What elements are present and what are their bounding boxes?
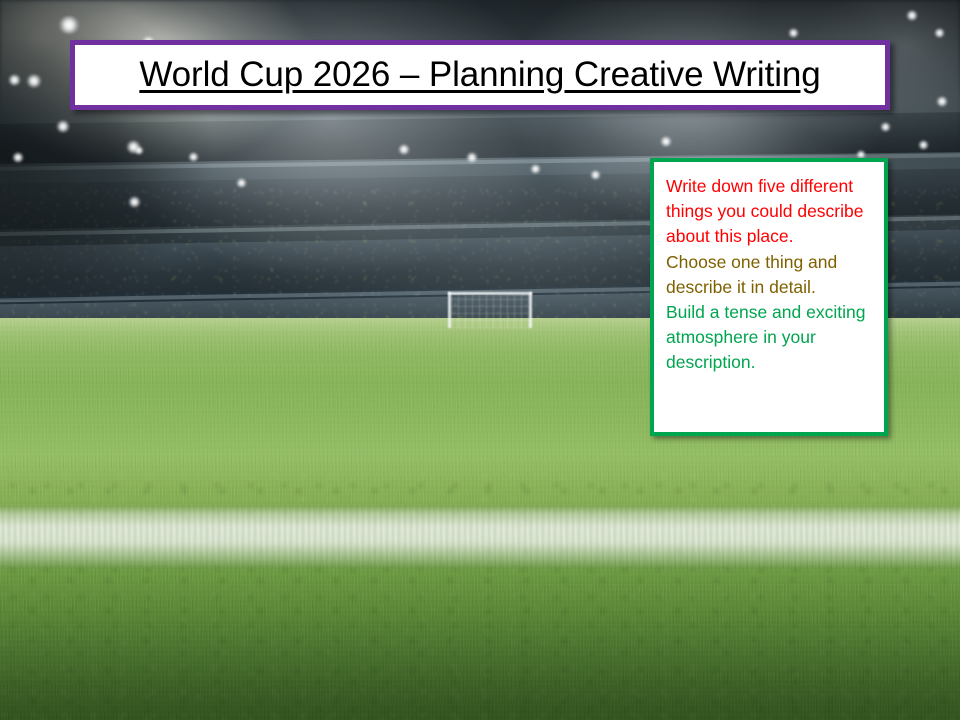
slide-canvas: World Cup 2026 – Planning Creative Writi…	[0, 0, 960, 720]
floodlight-bulb-icon	[134, 146, 144, 155]
goal-crossbar	[448, 292, 532, 295]
floodlight-bulb-icon	[128, 196, 141, 208]
task-line-should: Choose one thing and describe it in deta…	[666, 250, 874, 300]
floodlight-bulb-icon	[936, 96, 948, 107]
floodlight-bulb-icon	[56, 120, 70, 133]
floodlight-bulb-icon	[788, 28, 799, 38]
floodlight-bulb-icon	[26, 74, 42, 88]
pitch-touch-line-texture	[0, 505, 960, 569]
floodlight-bulb-icon	[236, 178, 247, 188]
floodlight-bulb-icon	[12, 152, 24, 163]
goal-frame	[448, 292, 532, 328]
floodlight-bulb-icon	[466, 152, 478, 163]
floodlight-bulb-icon	[58, 16, 80, 34]
floodlight-bulb-icon	[188, 152, 199, 162]
goal-post-right	[529, 292, 532, 328]
task-line-must: Write down five different things you cou…	[666, 174, 874, 250]
goal-net	[451, 295, 529, 328]
page-title: World Cup 2026 – Planning Creative Writi…	[139, 56, 820, 95]
title-box: World Cup 2026 – Planning Creative Writi…	[70, 40, 890, 110]
task-line-could: Build a tense and exciting atmosphere in…	[666, 300, 874, 376]
floodlight-bulb-icon	[880, 122, 891, 132]
floodlight-bulb-icon	[906, 10, 918, 21]
floodlight-bulb-icon	[918, 140, 929, 150]
floodlight-bulb-icon	[398, 144, 410, 155]
floodlight-bulb-icon	[530, 164, 541, 174]
floodlight-bulb-icon	[590, 170, 601, 180]
task-instruction-box: Write down five different things you cou…	[650, 158, 888, 436]
floodlight-bulb-icon	[934, 28, 945, 38]
goal-post-left	[448, 292, 451, 328]
floodlight-bulb-icon	[660, 136, 672, 147]
floodlight-bulb-icon	[8, 74, 21, 86]
